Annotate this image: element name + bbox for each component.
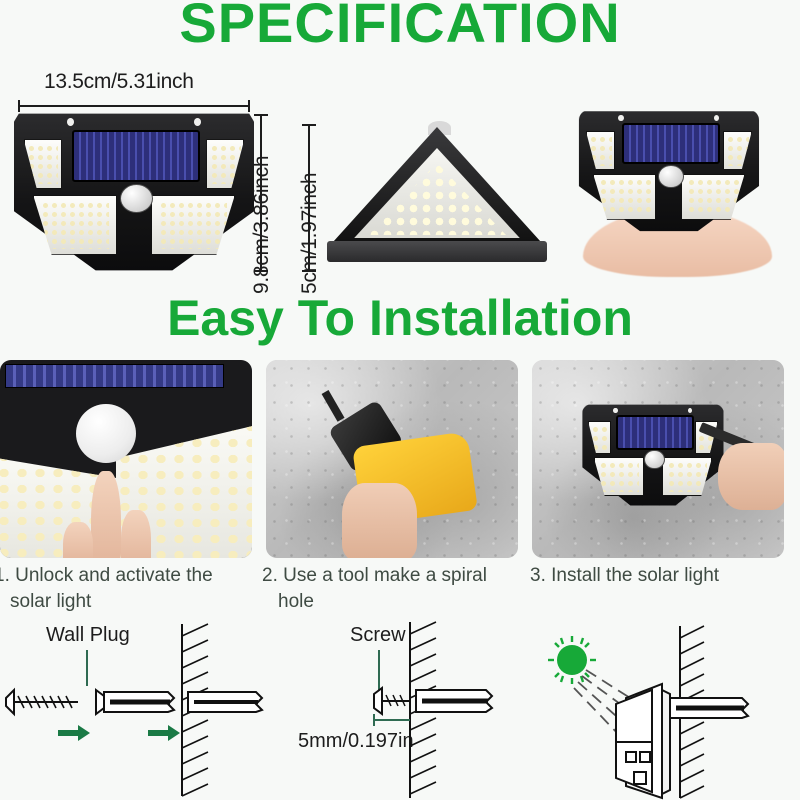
step-1-photo — [0, 360, 252, 558]
solar-light-in-hand — [570, 110, 785, 280]
wall-plug-icon — [416, 690, 492, 712]
installation-captions: 1. Unlock and activate the solar light 2… — [0, 563, 800, 623]
direction-arrow — [58, 725, 180, 741]
specification-title: SPECIFICATION — [0, 0, 800, 53]
depth-dimension-label: 5cm/1.97inch — [298, 173, 322, 294]
solar-light-front-view — [14, 112, 254, 272]
installation-photo-row — [0, 360, 800, 560]
step-3-caption: 3. Install the solar light — [530, 563, 780, 589]
hand — [342, 483, 418, 558]
width-dimension-line — [18, 100, 250, 111]
wall-plug-diagram: Wall Plug — [0, 620, 280, 800]
width-dimension-label: 13.5cm/5.31inch — [44, 70, 194, 94]
mounted-light-diagram — [530, 620, 800, 800]
step-2-text: Use a tool make a spiral — [283, 565, 487, 586]
step-3-photo — [532, 360, 784, 558]
solar-light-side-view — [322, 118, 552, 268]
solar-light-side-profile — [616, 684, 670, 798]
motion-sensor-dome — [120, 184, 153, 213]
step-2-photo — [266, 360, 518, 558]
wall-plug-icon — [96, 690, 174, 714]
screw-diagram: Screw 5mm/0.197in — [290, 620, 540, 800]
measurement-bracket — [374, 714, 410, 726]
step-1-text: Unlock and activate the — [15, 565, 213, 586]
step-3-text: Install the solar light — [551, 565, 719, 586]
specification-row: 13.5cm/5.31inch 9.8cm/3.86inch — [0, 70, 800, 285]
step-2-caption: 2. Use a tool make a spiral hole — [262, 563, 512, 614]
wall-plug-drawing — [0, 620, 280, 800]
step-2-number: 2. — [262, 565, 278, 586]
hand — [718, 443, 784, 510]
specification-infographic: SPECIFICATION 13.5cm/5.31inch 9.8cm/3 — [0, 0, 800, 800]
installation-title: Easy To Installation — [0, 292, 800, 345]
sun-icon — [548, 636, 596, 684]
height-dimension-label: 9.8cm/3.86inch — [250, 156, 274, 294]
step-1-text-line2: solar light — [0, 589, 244, 615]
wall-plug-icon — [670, 698, 748, 718]
screw-icon — [6, 690, 78, 714]
step-3-number: 3. — [530, 565, 546, 586]
screw-drawing — [290, 620, 540, 800]
step-1-caption: 1. Unlock and activate the solar light — [0, 563, 244, 614]
wall-plug-inserted — [188, 692, 262, 712]
screw-icon — [374, 688, 410, 714]
mounted-drawing — [530, 620, 800, 800]
step-1-number: 1. — [0, 565, 10, 586]
step-2-text-line2: hole — [262, 589, 512, 615]
motion-sensor-dome — [76, 404, 136, 463]
mounting-diagrams: Wall Plug — [0, 620, 800, 800]
